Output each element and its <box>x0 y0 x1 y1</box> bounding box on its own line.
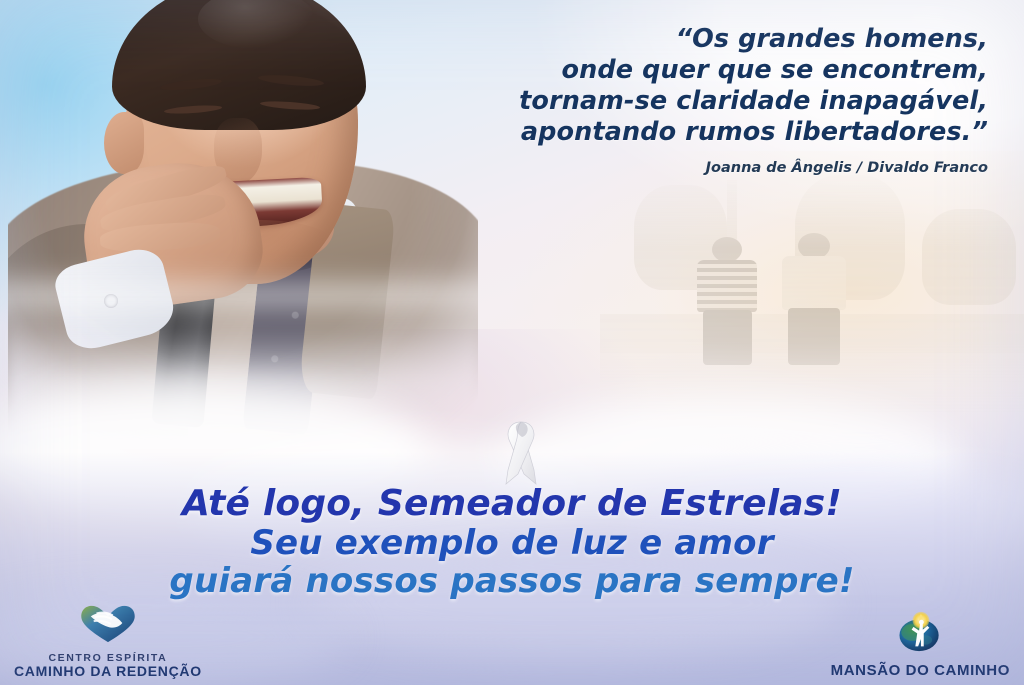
memorial-poster: “Os grandes homens, onde quer que se enc… <box>0 0 1024 685</box>
message-line-1: Até logo, Semeador de Estrelas! <box>0 484 1024 524</box>
quote-line-3: tornam-se claridade inapagável, <box>368 86 988 117</box>
quote-line-2: onde quer que se encontrem, <box>368 55 988 86</box>
logo-centro-espirita-caminho-da-redencao[interactable]: CENTRO ESPÍRITA CAMINHO DA REDENÇÃO <box>14 603 202 679</box>
heart-hands-icon <box>77 603 139 650</box>
farewell-message: Até logo, Semeador de Estrelas! Seu exem… <box>0 484 1024 600</box>
portrait-mist <box>8 309 478 459</box>
portrait-ear <box>104 112 144 174</box>
logo-mansao-do-caminho[interactable]: MANSÃO DO CAMINHO <box>831 609 1010 679</box>
white-ribbon-icon <box>486 410 556 490</box>
logo-left-text: CENTRO ESPÍRITA CAMINHO DA REDENÇÃO <box>14 653 202 679</box>
quote-attribution: Joanna de Ângelis / Divaldo Franco <box>368 160 988 176</box>
message-line-2: Seu exemplo de luz e amor <box>0 524 1024 562</box>
background-person-white-shirt <box>778 233 850 363</box>
quote-line-1: “Os grandes homens, <box>368 24 988 55</box>
logo-left-line-2: CAMINHO DA REDENÇÃO <box>14 664 202 679</box>
background-person-striped-shirt <box>693 237 761 362</box>
quote-line-4: apontando rumos libertadores.” <box>368 117 988 148</box>
message-line-3: guiará nossos passos para sempre! <box>0 562 1024 600</box>
logo-right-label: MANSÃO DO CAMINHO <box>831 662 1010 679</box>
background-tree <box>922 209 1015 305</box>
quote-block: “Os grandes homens, onde quer que se enc… <box>368 24 988 176</box>
portrait-hair <box>112 0 366 130</box>
globe-torch-bearer-icon <box>892 609 948 659</box>
background-photo-two-men-walking <box>600 175 1024 415</box>
